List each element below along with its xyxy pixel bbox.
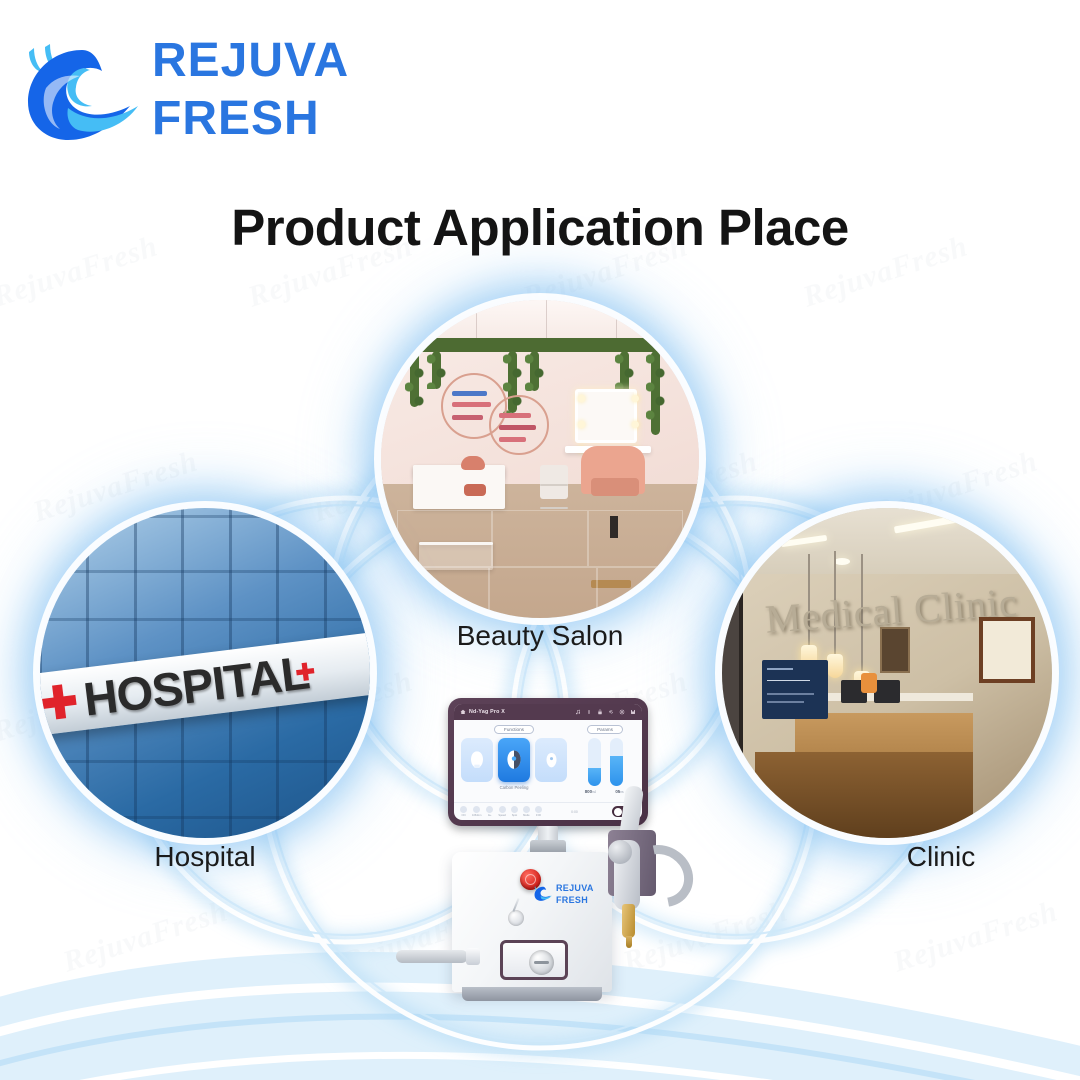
brand-name-line1: REJUVA: [152, 32, 349, 90]
screen-app-title: Nd-Yag Pro X: [469, 709, 505, 715]
function-card-face-spot[interactable]: [535, 738, 567, 782]
nd-yag-laser-machine: Nd-Yag Pro X: [370, 690, 770, 1050]
home-icon[interactable]: [460, 709, 466, 715]
cable-collar: [466, 948, 480, 965]
wave-icon: [473, 806, 480, 813]
machine-brand-text: REJUVA FRESH: [556, 882, 594, 906]
lock-icon[interactable]: [597, 709, 603, 715]
machine-brand-line2: FRESH: [556, 894, 594, 906]
face-blank-icon: [469, 750, 485, 770]
toolbar-item-timer[interactable]: 0:00: [535, 806, 542, 817]
wave-logo-icon: [12, 30, 152, 150]
param-value-energy: 800mJ: [579, 789, 603, 794]
handpiece-pivot-ring: [608, 840, 632, 864]
link-icon[interactable]: [608, 709, 614, 715]
functions-panel-label: Functions: [494, 725, 534, 734]
page-title: Product Application Place: [0, 198, 1080, 257]
toolbar-item-power[interactable]: ON: [460, 806, 467, 817]
energy-icon: [486, 806, 493, 813]
clinic-wall-sign: [762, 660, 828, 719]
brand-name: REJUVA FRESH: [152, 32, 349, 148]
key-switch[interactable]: [508, 910, 524, 926]
handpiece-connector-port[interactable]: [500, 940, 568, 980]
place-image-clinic: Medical Clinic: [722, 508, 1052, 838]
place-image-hospital: HOSPITAL: [40, 508, 370, 838]
music-icon[interactable]: [575, 709, 581, 715]
brand-name-line2: FRESH: [152, 90, 349, 148]
handpiece-laser-tip: [622, 904, 635, 938]
machine-brand-line1: REJUVA: [556, 882, 594, 894]
screen-toolbar: ON 1064nm E+ Speed Spot: [454, 802, 642, 820]
toolbar-item-wavelength[interactable]: 1064nm: [472, 806, 481, 817]
place-label-beauty-salon: Beauty Salon: [370, 620, 710, 652]
machine-brand-logo: REJUVA FRESH: [532, 882, 600, 908]
framed-certificate: [979, 617, 1035, 683]
gear-icon[interactable]: [619, 709, 625, 715]
face-spot-icon: [544, 751, 559, 770]
toolbar-item-speed[interactable]: Speed: [498, 806, 506, 817]
info-icon[interactable]: [586, 709, 592, 715]
red-cross-small-icon: [293, 660, 318, 685]
functions-panel: Functions: [460, 725, 568, 800]
params-panel-label: Params: [587, 725, 623, 734]
place-label-clinic: Clinic: [771, 841, 1080, 873]
save-icon[interactable]: [630, 709, 636, 715]
function-card-face-treatment[interactable]: [498, 738, 530, 782]
screen-status-icons: [575, 709, 636, 715]
function-card-face-blank[interactable]: [461, 738, 493, 782]
toolbar-item-mode[interactable]: Mode: [523, 806, 530, 817]
machine-body: REJUVA FRESH: [452, 852, 612, 992]
connector-knob[interactable]: [529, 950, 554, 975]
function-caption: Carbon Peeling: [500, 785, 529, 790]
toolbar-item-spot[interactable]: Spot: [511, 806, 518, 817]
clinic-scene: Medical Clinic: [722, 508, 1052, 838]
place-image-beauty-salon: [381, 300, 699, 618]
spot-icon: [511, 806, 518, 813]
speed-icon: [499, 806, 506, 813]
brand-logo: REJUVA FRESH: [12, 26, 362, 156]
red-cross-icon: [40, 679, 82, 726]
device-touchscreen[interactable]: Nd-Yag Pro X: [448, 698, 648, 826]
beauty-salon-scene: [381, 300, 699, 618]
function-card-list: [461, 738, 567, 782]
hospital-scene: HOSPITAL: [40, 508, 370, 838]
timer-icon: [535, 806, 542, 813]
toolbar-timer-readout: 0:00: [571, 810, 578, 814]
param-slider-pulse[interactable]: [610, 738, 623, 786]
screen-titlebar: Nd-Yag Pro X: [454, 704, 642, 720]
handpiece-cable: [396, 950, 468, 963]
wave-logo-icon: [532, 882, 554, 904]
param-slider-energy[interactable]: [588, 738, 601, 786]
mode-icon: [523, 806, 530, 813]
toolbar-item-energy[interactable]: E+: [486, 806, 493, 817]
face-treatment-icon: [505, 749, 523, 771]
place-label-hospital: Hospital: [35, 841, 375, 873]
power-icon: [460, 806, 467, 813]
